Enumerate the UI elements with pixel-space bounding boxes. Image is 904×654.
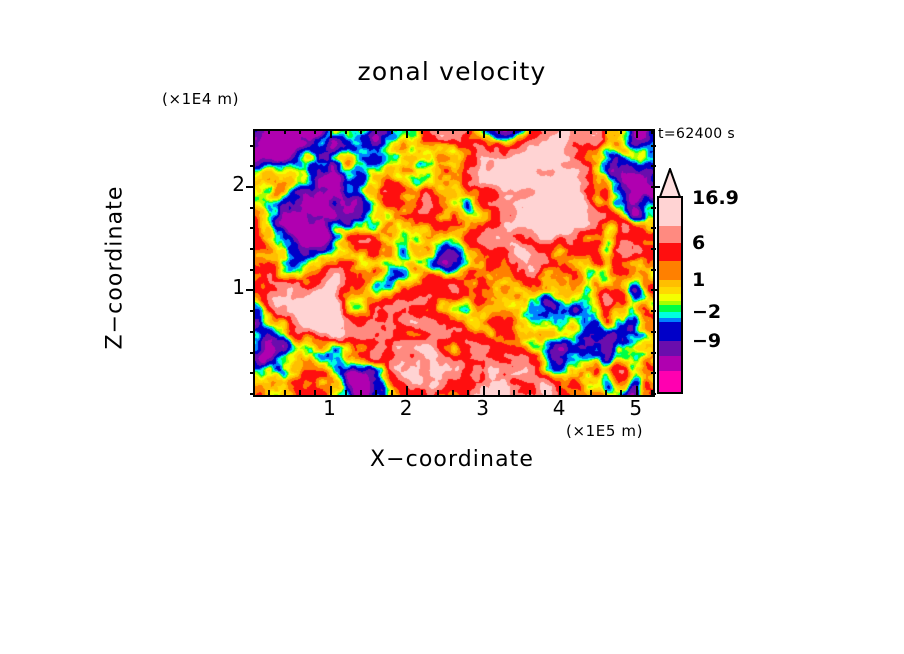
x-axis-unit-label: (×1E5 m) [566,422,643,440]
x-minor-tick [605,390,607,395]
x-major-tick [406,386,408,395]
figure-root: zonal velocity (×1E4 m) t=62400 s 123451… [0,0,904,654]
x-minor-tick-top [268,129,270,134]
colorbar-band [659,226,681,244]
y-minor-tick [250,331,255,333]
x-major-tick-top [559,129,561,138]
x-minor-tick [299,390,301,395]
y-major-tick [246,289,255,291]
x-major-tick [330,386,332,395]
x-tick-label: 1 [310,396,350,420]
x-minor-tick [314,390,316,395]
x-tick-label: 3 [463,396,503,420]
x-minor-tick [452,390,454,395]
y-minor-tick-right [651,269,656,271]
x-minor-tick-top [360,129,362,134]
x-minor-tick-top [284,129,286,134]
x-major-tick-top [483,129,485,138]
y-minor-tick-right [651,393,656,395]
x-minor-tick-top [253,129,255,134]
x-minor-tick [590,390,592,395]
x-major-tick [636,386,638,395]
y-axis-unit-label: (×1E4 m) [162,90,239,108]
colorbar-bands [657,196,683,394]
x-tick-label: 5 [616,396,656,420]
x-minor-tick-top [620,129,622,134]
colorbar-label: −2 [692,301,721,323]
colorbar-band [659,243,681,261]
colorbar [657,168,683,394]
colorbar-band [659,198,681,227]
x-minor-tick [574,390,576,395]
y-minor-tick [250,165,255,167]
x-minor-tick [498,390,500,395]
y-minor-tick-right [651,372,656,374]
x-axis-title: X−coordinate [253,447,651,472]
colorbar-band [659,371,681,392]
colorbar-band [659,356,681,372]
y-minor-tick-right [651,227,656,229]
x-minor-tick-top [375,129,377,134]
y-minor-tick-right [651,207,656,209]
x-minor-tick [620,390,622,395]
x-minor-tick [360,390,362,395]
x-minor-tick [513,390,515,395]
y-minor-tick [250,372,255,374]
colorbar-band [659,322,681,341]
y-minor-tick [250,393,255,395]
x-tick-label: 2 [386,396,426,420]
x-minor-tick-top [391,129,393,134]
y-tick-label: 2 [205,172,245,196]
x-minor-tick-top [314,129,316,134]
x-major-tick-top [636,129,638,138]
y-minor-tick [250,145,255,147]
x-major-tick [483,386,485,395]
x-minor-tick [391,390,393,395]
x-minor-tick [345,390,347,395]
x-minor-tick-top [498,129,500,134]
x-minor-tick-top [544,129,546,134]
y-minor-tick-right [651,145,656,147]
x-tick-label: 4 [539,396,579,420]
x-minor-tick [544,390,546,395]
colorbar-arrow-cap-icon [657,168,683,198]
x-minor-tick-top [605,129,607,134]
colorbar-label: 6 [692,232,705,254]
y-minor-tick-right [651,352,656,354]
x-major-tick-top [330,129,332,138]
x-minor-tick-top [437,129,439,134]
x-minor-tick-top [574,129,576,134]
x-minor-tick-top [529,129,531,134]
contour-field-canvas [255,131,653,395]
x-minor-tick-top [452,129,454,134]
colorbar-band [659,341,681,357]
y-minor-tick [250,248,255,250]
y-tick-label: 1 [205,275,245,299]
y-minor-tick-right [651,310,656,312]
x-minor-tick-top [299,129,301,134]
x-minor-tick [437,390,439,395]
plot-area [253,129,655,397]
x-minor-tick [529,390,531,395]
x-minor-tick-top [421,129,423,134]
colorbar-label: 1 [692,269,705,291]
x-minor-tick-top [651,129,653,134]
x-minor-tick [284,390,286,395]
y-minor-tick [250,352,255,354]
x-minor-tick-top [467,129,469,134]
timestamp-annotation: t=62400 s [658,126,735,142]
y-minor-tick [250,310,255,312]
colorbar-band [659,261,681,280]
y-minor-tick-right [651,331,656,333]
x-major-tick-top [406,129,408,138]
x-minor-tick [421,390,423,395]
x-minor-tick-top [590,129,592,134]
y-minor-tick [250,207,255,209]
x-minor-tick-top [345,129,347,134]
x-minor-tick-top [513,129,515,134]
y-minor-tick [250,227,255,229]
colorbar-label: 16.9 [692,187,739,209]
y-minor-tick-right [651,165,656,167]
page-title: zonal velocity [0,57,904,86]
colorbar-label: −9 [692,330,721,352]
y-minor-tick-right [651,248,656,250]
y-axis-title: Z−coordinate [103,118,128,418]
y-major-tick [246,186,255,188]
y-minor-tick [250,269,255,271]
x-minor-tick [375,390,377,395]
x-major-tick [559,386,561,395]
x-minor-tick [467,390,469,395]
x-minor-tick [268,390,270,395]
